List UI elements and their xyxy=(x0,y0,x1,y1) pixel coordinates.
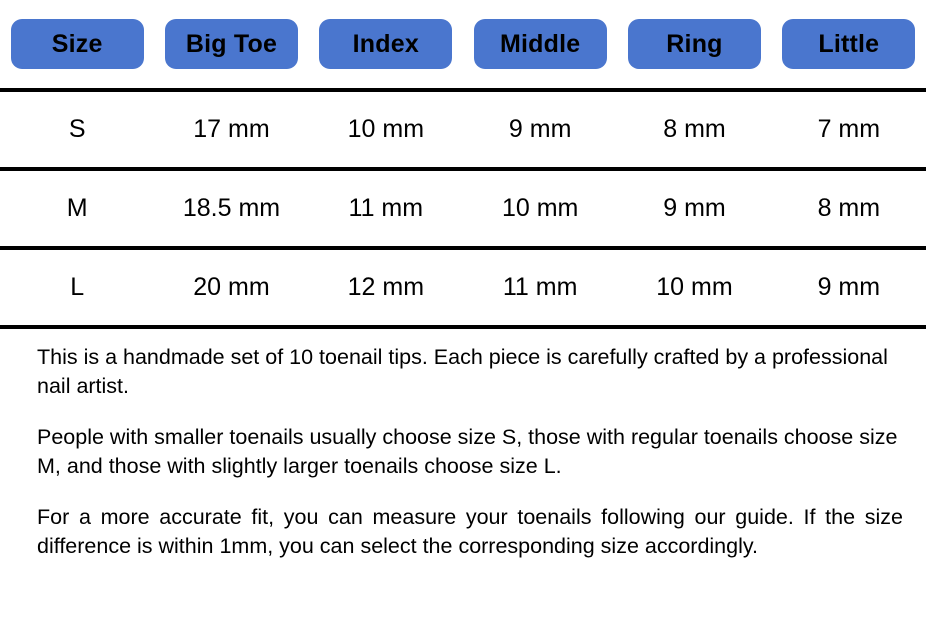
table-header-row: Size Big Toe Index Middle Ring Little xyxy=(0,0,926,88)
cell-middle: 10 mm xyxy=(463,171,617,246)
header-pill-index: Index xyxy=(319,19,452,69)
cell-big-toe: 18.5 mm xyxy=(154,171,308,246)
cell-ring: 9 mm xyxy=(617,171,771,246)
cell-ring: 10 mm xyxy=(617,250,771,325)
cell-big-toe: 17 mm xyxy=(154,92,308,167)
header-cell-size: Size xyxy=(0,0,154,88)
description-section: This is a handmade set of 10 toenail tip… xyxy=(0,329,926,561)
header-pill-size: Size xyxy=(11,19,144,69)
header-cell-index: Index xyxy=(309,0,463,88)
header-cell-ring: Ring xyxy=(617,0,771,88)
cell-big-toe: 20 mm xyxy=(154,250,308,325)
size-table: Size Big Toe Index Middle Ring Little xyxy=(0,0,926,329)
cell-middle: 11 mm xyxy=(463,250,617,325)
header-pill-middle: Middle xyxy=(474,19,607,69)
cell-little: 7 mm xyxy=(772,92,926,167)
header-cell-little: Little xyxy=(772,0,926,88)
description-paragraph-2: People with smaller toenails usually cho… xyxy=(37,423,903,481)
cell-little: 8 mm xyxy=(772,171,926,246)
header-cell-big-toe: Big Toe xyxy=(154,0,308,88)
header-pill-big-toe: Big Toe xyxy=(165,19,298,69)
cell-index: 11 mm xyxy=(309,171,463,246)
header-pill-ring: Ring xyxy=(628,19,761,69)
cell-middle: 9 mm xyxy=(463,92,617,167)
description-paragraph-3: For a more accurate fit, you can measure… xyxy=(37,503,903,561)
cell-size: L xyxy=(0,250,154,325)
table-row: L 20 mm 12 mm 11 mm 10 mm 9 mm xyxy=(0,250,926,325)
size-table-body: S 17 mm 10 mm 9 mm 8 mm 7 mm M 18.5 mm 1… xyxy=(0,88,926,329)
size-chart-page: Size Big Toe Index Middle Ring Little xyxy=(0,0,926,618)
header-cell-middle: Middle xyxy=(463,0,617,88)
description-paragraph-1: This is a handmade set of 10 toenail tip… xyxy=(37,343,903,401)
cell-ring: 8 mm xyxy=(617,92,771,167)
cell-index: 12 mm xyxy=(309,250,463,325)
cell-size: M xyxy=(0,171,154,246)
cell-index: 10 mm xyxy=(309,92,463,167)
table-row: M 18.5 mm 11 mm 10 mm 9 mm 8 mm xyxy=(0,171,926,246)
size-table-head: Size Big Toe Index Middle Ring Little xyxy=(0,0,926,88)
table-row: S 17 mm 10 mm 9 mm 8 mm 7 mm xyxy=(0,92,926,167)
cell-little: 9 mm xyxy=(772,250,926,325)
cell-size: S xyxy=(0,92,154,167)
header-pill-little: Little xyxy=(782,19,915,69)
